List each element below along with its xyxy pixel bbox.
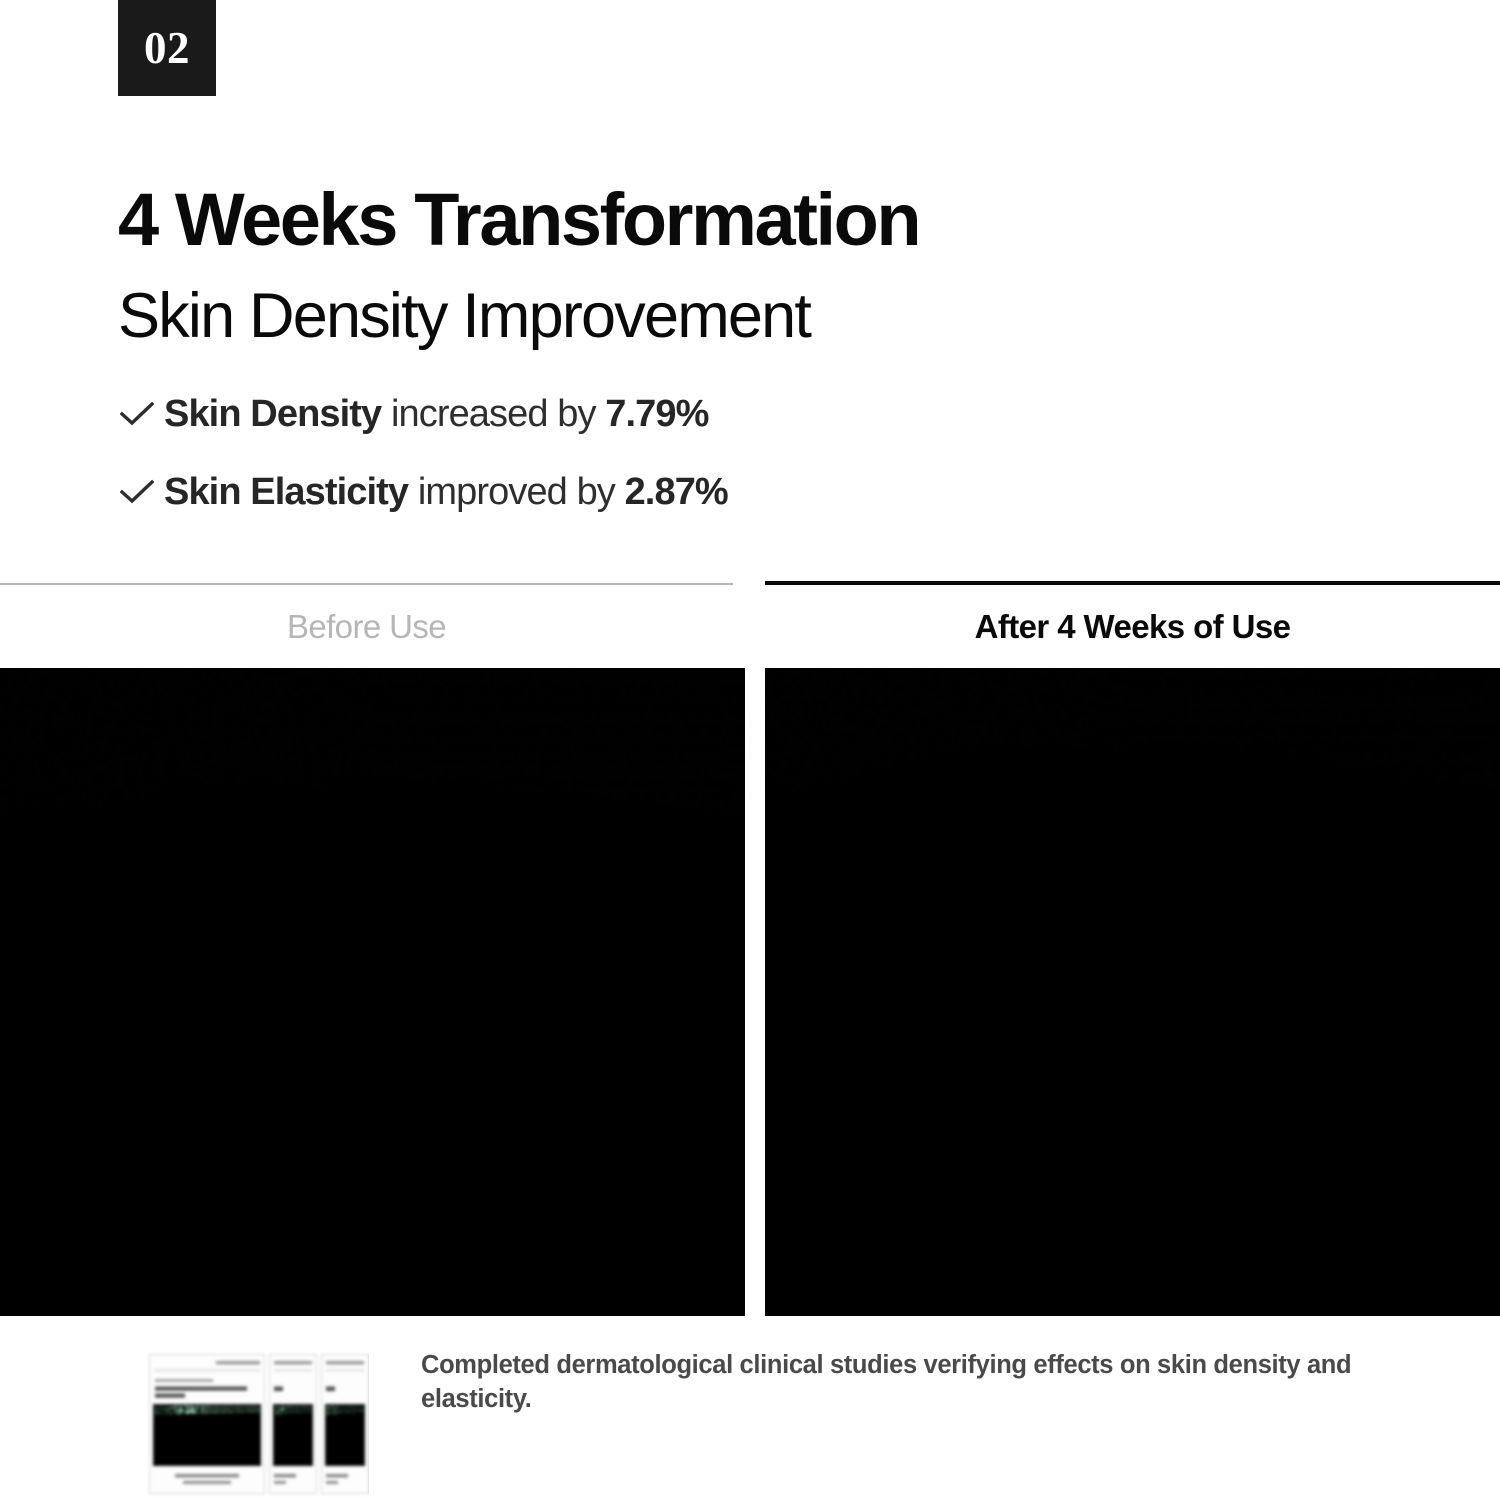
clinical-report-thumbnail [145, 1348, 369, 1500]
benefit-label: Skin Elasticity [164, 471, 408, 513]
divider-after [765, 581, 1500, 585]
divider-before [0, 583, 733, 585]
scan-image-before [0, 668, 745, 1316]
page-title: 4 Weeks Transformation [118, 183, 919, 257]
page-subtitle: Skin Density Improvement [118, 285, 810, 348]
check-icon [120, 479, 164, 505]
infographic-page: 02 4 Weeks Transformation Skin Density I… [0, 0, 1500, 1500]
label-after-use: After 4 Weeks of Use [765, 608, 1500, 646]
check-icon [120, 401, 164, 427]
benefit-middle: increased by [381, 393, 605, 435]
section-number-label: 02 [144, 20, 190, 71]
section-number-badge: 02 [118, 0, 216, 96]
benefit-value: 2.87% [625, 471, 728, 513]
benefit-middle: improved by [408, 471, 624, 513]
benefit-text: Skin Elasticity improved by 2.87% [164, 471, 728, 514]
benefit-list: Skin Density increased by 7.79% Skin Ela… [120, 375, 728, 531]
benefit-item-skin-elasticity: Skin Elasticity improved by 2.87% [120, 453, 728, 531]
scan-image-after [765, 668, 1500, 1316]
label-before-use: Before Use [0, 608, 733, 646]
benefit-text: Skin Density increased by 7.79% [164, 393, 709, 436]
benefit-value: 7.79% [605, 393, 708, 435]
benefit-label: Skin Density [164, 393, 381, 435]
benefit-item-skin-density: Skin Density increased by 7.79% [120, 375, 728, 453]
footer-caption: Completed dermatological clinical studie… [421, 1349, 1421, 1417]
